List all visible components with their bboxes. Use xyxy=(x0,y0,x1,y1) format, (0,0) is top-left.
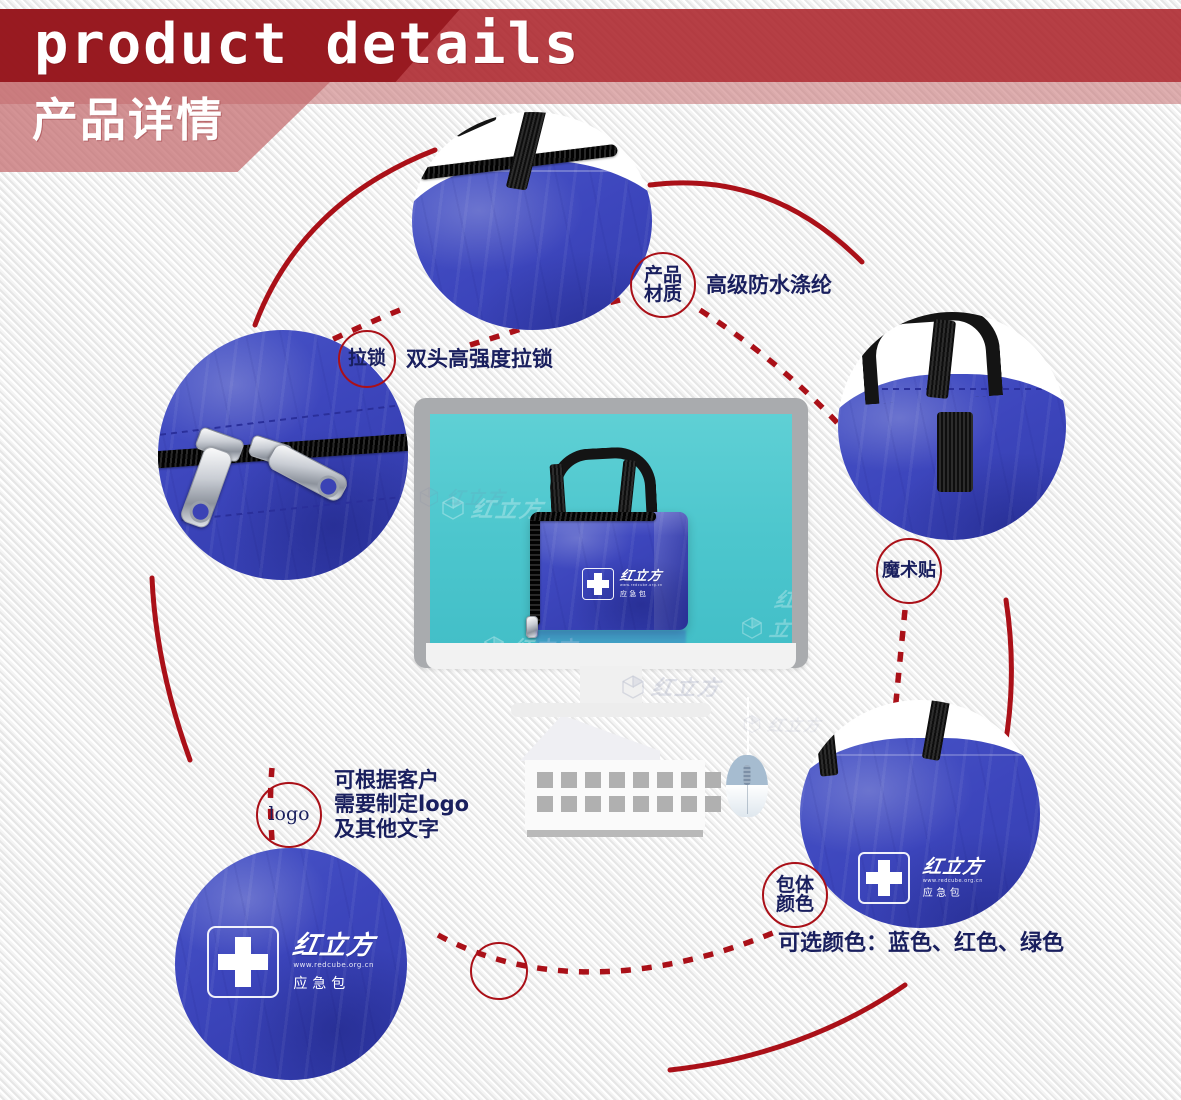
arc-upper-right xyxy=(650,183,862,262)
brand-script: 红立方 xyxy=(619,570,664,583)
mouse-button-divider xyxy=(747,785,748,814)
watermark-text: 红立方 xyxy=(649,672,723,702)
keyboard-keys xyxy=(537,772,721,812)
decorative-circle xyxy=(470,942,528,1000)
arc-upper-left xyxy=(255,150,435,325)
callout-badge-body-color[interactable]: 包体 颜色 xyxy=(762,862,828,928)
arc-left xyxy=(152,578,190,760)
photo-logo: 红立方 www.redcube.org.cn 应急包 xyxy=(175,848,407,1080)
watermark: 红立方 xyxy=(740,584,792,644)
photo-body-color: 红立方 www.redcube.org.cn 应急包 xyxy=(800,700,1040,928)
monitor-stand-wedge xyxy=(520,715,660,761)
callout-badge-velcro[interactable]: 魔术贴 xyxy=(876,538,942,604)
keyboard-illustration xyxy=(525,760,705,830)
monitor-neck xyxy=(580,666,642,706)
callout-badge-logo[interactable]: logo xyxy=(256,782,322,848)
brand-url: www.redcube.org.cn xyxy=(620,584,663,587)
brand-script: 红立方 xyxy=(291,933,377,959)
callout-text-logo: 可根据客户 需要制定logo 及其他文字 xyxy=(334,768,469,841)
monitor-screen: 红立方 红立方 红立方 xyxy=(430,414,792,644)
callout-badge-line: logo xyxy=(268,805,309,824)
callout-zipper[interactable]: 拉锁 双头高强度拉锁 xyxy=(338,330,553,388)
red-cross-icon xyxy=(582,568,614,600)
arc-bottom-right xyxy=(670,985,905,1070)
brand-url: www.redcube.org.cn xyxy=(293,962,374,969)
monitor-base xyxy=(511,703,711,717)
callout-text-line: 可根据客户 xyxy=(334,768,469,792)
mouse-scroll-wheel xyxy=(744,765,751,785)
callout-material[interactable]: 产品 材质 高级防水涤纶 xyxy=(630,252,832,318)
callout-badge-zipper[interactable]: 拉锁 xyxy=(338,330,396,388)
callout-text-line: 可选颜色：蓝色、红色、绿色 xyxy=(778,931,1064,956)
page-title-en: product details xyxy=(34,14,580,76)
velcro-strip xyxy=(937,412,973,492)
product-bag-main: 红立方 www.redcube.org.cn 应急包 xyxy=(528,450,708,640)
brand-url: www.redcube.org.cn xyxy=(923,879,983,884)
product-details-page: product details 产品详情 xyxy=(0,0,1181,1100)
callout-badge-line: 材质 xyxy=(644,285,682,304)
watermark-text: 红立方 xyxy=(762,584,792,644)
callout-text-body-color: 可选颜色：蓝色、红色、绿色 xyxy=(778,925,1064,957)
keyboard-base xyxy=(527,830,703,837)
mouse-cord xyxy=(747,697,749,757)
photo-main-monitor: 红立方 红立方 红立方 xyxy=(414,398,808,668)
bag-logo-lockup: 红立方 www.redcube.org.cn 应急包 xyxy=(207,926,387,998)
zipper-main xyxy=(530,514,540,626)
brand-subtitle: 应急包 xyxy=(923,889,983,899)
red-cross-icon xyxy=(858,852,910,904)
callout-text-line: 高级防水涤纶 xyxy=(706,273,832,297)
page-title-cn: 产品详情 xyxy=(32,92,224,148)
brand-script: 红立方 xyxy=(921,858,984,877)
red-cross-icon xyxy=(207,926,279,998)
callout-body-color[interactable]: 包体 颜色 xyxy=(762,862,828,928)
photo-material xyxy=(412,112,652,330)
brand-subtitle: 应急包 xyxy=(620,591,663,598)
callout-text-line: 双头高强度拉锁 xyxy=(406,347,553,371)
bag-body-material xyxy=(412,160,652,330)
callout-badge-line: 颜色 xyxy=(776,895,814,914)
callout-logo[interactable]: logo 可根据客户 需要制定logo 及其他文字 xyxy=(256,768,469,848)
callout-text-zipper: 双头高强度拉锁 xyxy=(406,347,553,371)
bag-reflection xyxy=(536,630,686,644)
callout-text-line: 及其他文字 xyxy=(334,817,469,841)
callout-badge-line: 拉锁 xyxy=(348,349,386,368)
callout-velcro[interactable]: 魔术贴 xyxy=(876,538,942,604)
bag-logo-lockup-main: 红立方 www.redcube.org.cn 应急包 xyxy=(582,568,657,600)
callout-text-material: 高级防水涤纶 xyxy=(706,273,832,297)
photo-velcro xyxy=(838,312,1066,540)
callout-badge-material[interactable]: 产品 材质 xyxy=(630,252,696,318)
mouse-illustration xyxy=(726,755,768,817)
callout-text-line: 需要制定logo xyxy=(334,792,469,816)
zipper-main-top xyxy=(530,512,656,521)
callout-badge-line: 魔术贴 xyxy=(882,562,936,580)
bag-logo-lockup-color: 红立方 www.redcube.org.cn 应急包 xyxy=(858,852,1018,904)
brand-subtitle: 应急包 xyxy=(293,977,374,991)
bag-body-main: 红立方 www.redcube.org.cn 应急包 xyxy=(530,512,688,630)
